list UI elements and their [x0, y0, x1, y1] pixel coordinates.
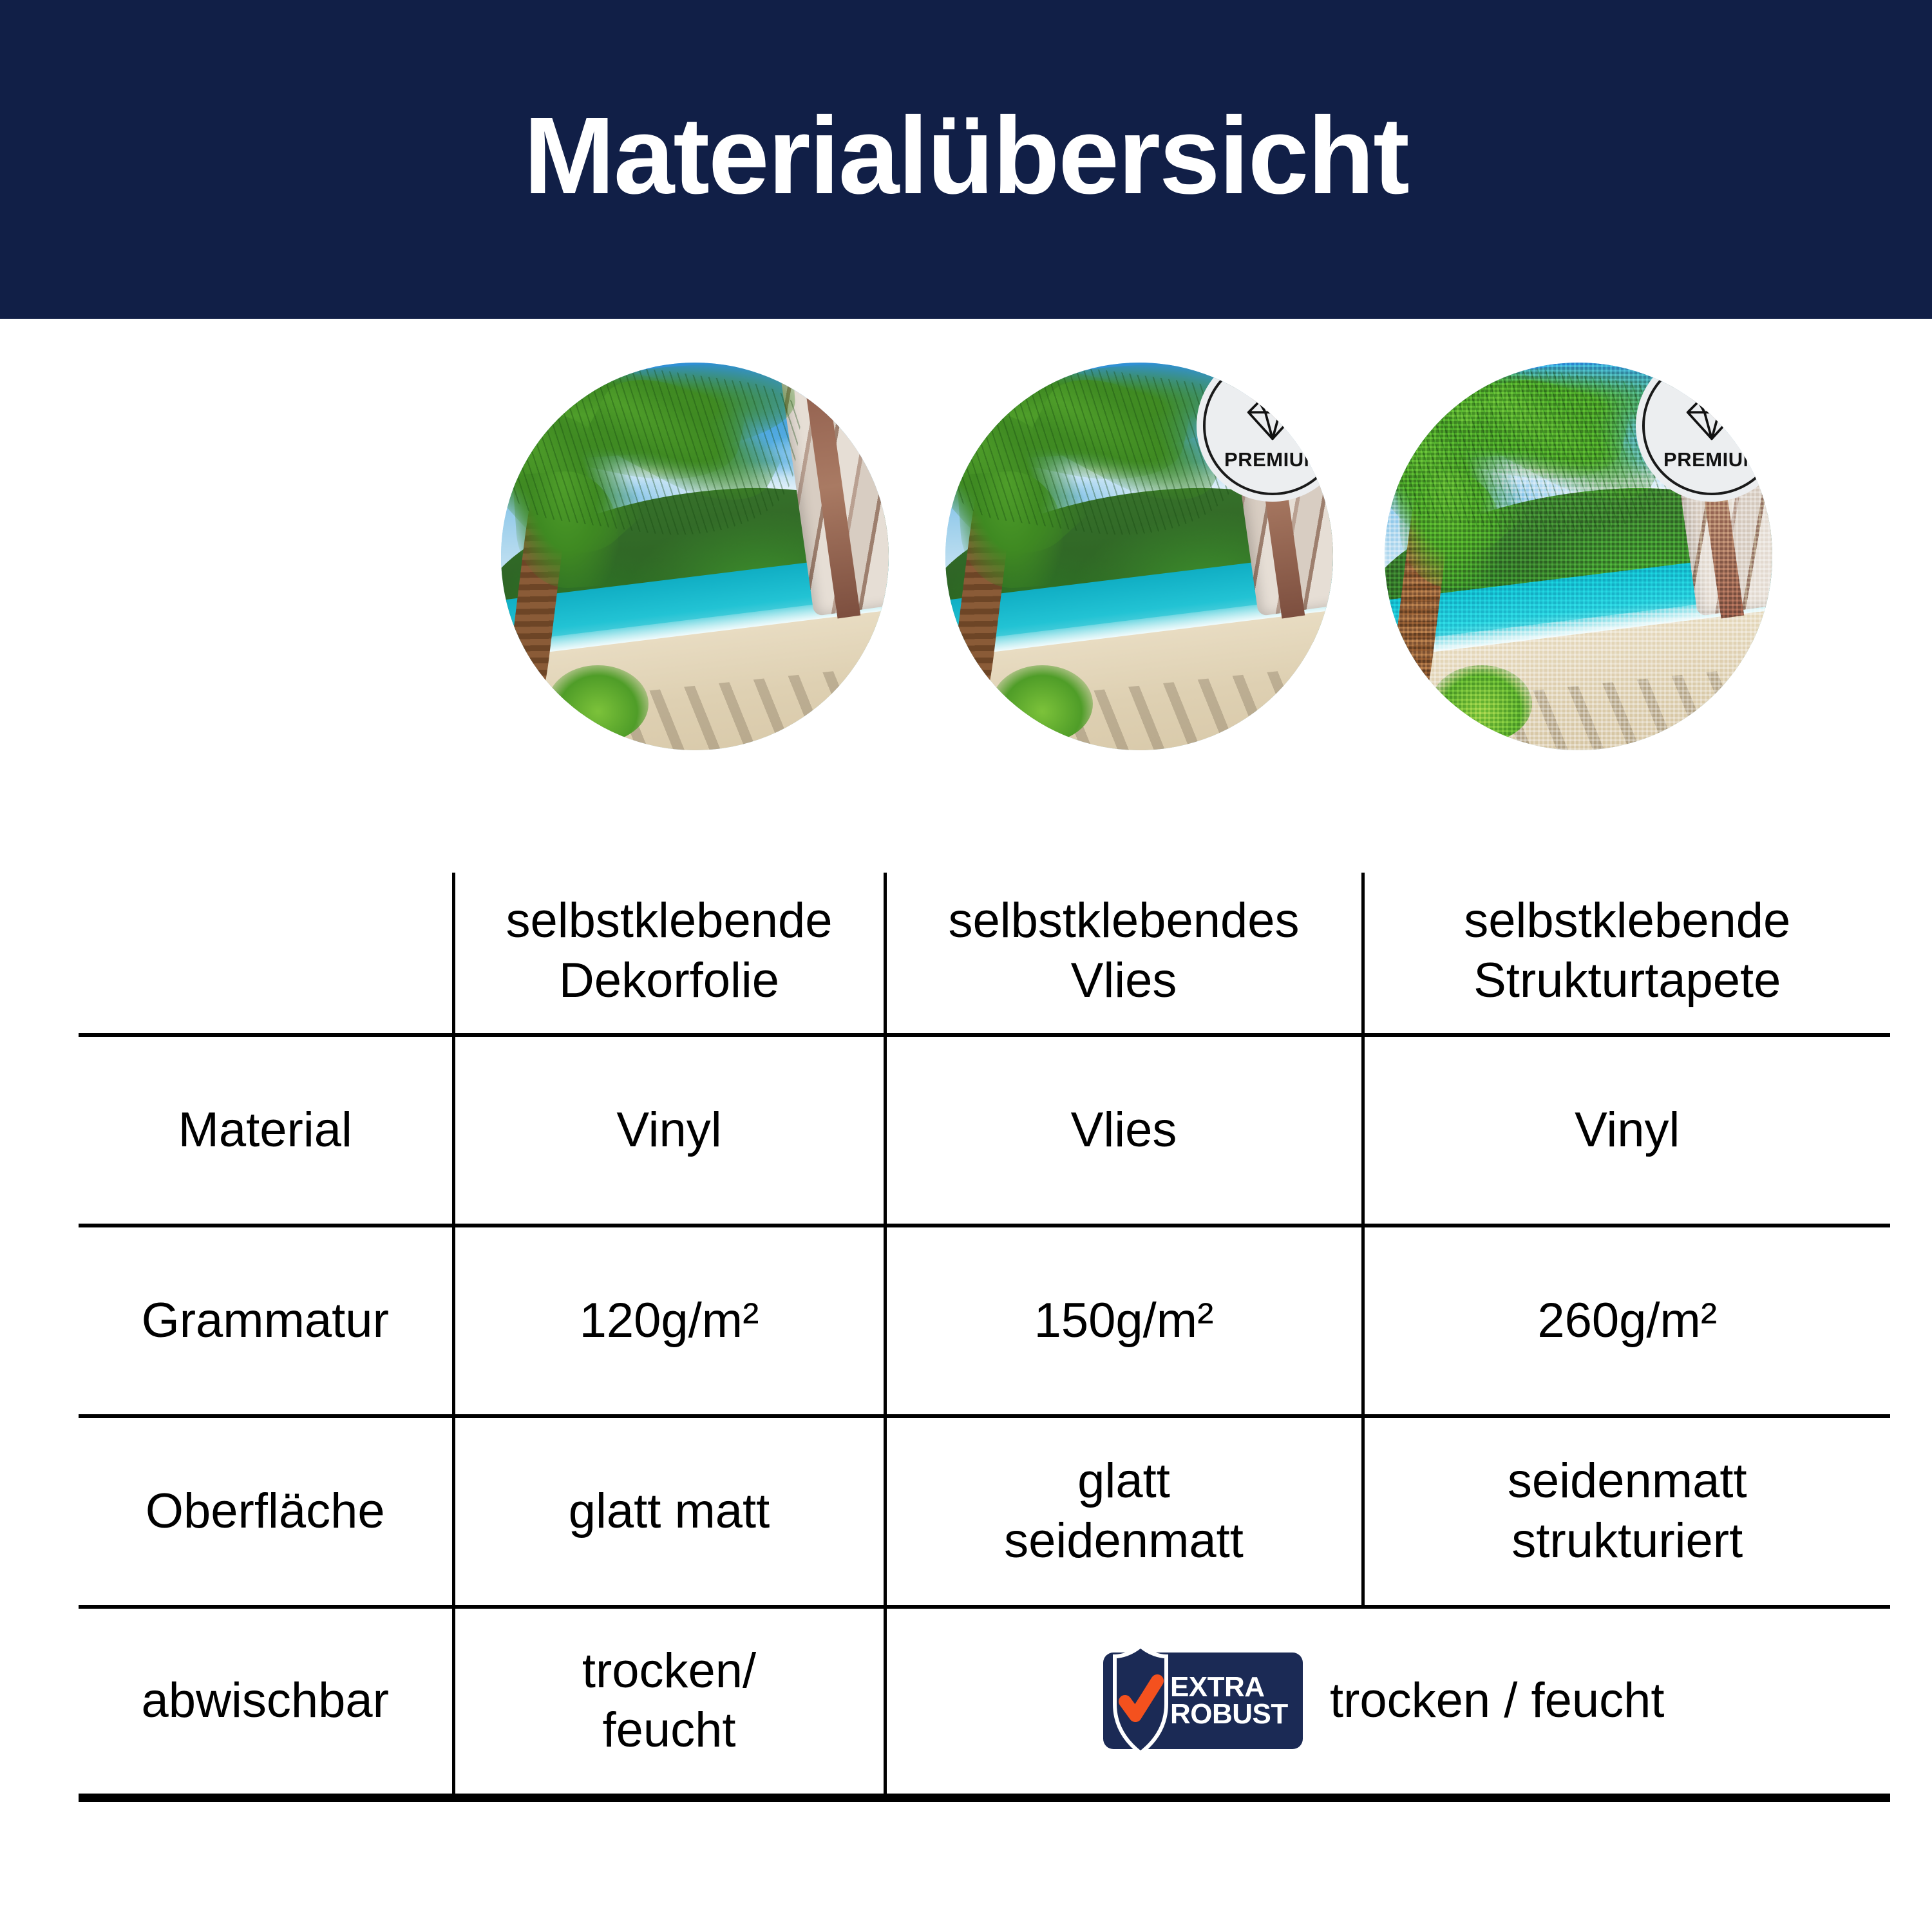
header-line-1: selbstklebendes	[896, 891, 1352, 951]
cell-abwischbar-vlies-strukturtapete: EXTRA ROBUST trocken / feucht	[885, 1607, 1890, 1797]
robust-line-2: ROBUST	[1170, 1701, 1288, 1728]
cell-oberflaeche-vlies: glatt seidenmatt	[885, 1416, 1363, 1607]
header-line-2: Vlies	[896, 951, 1352, 1011]
shield-check-icon	[1110, 1642, 1171, 1759]
cell-line-2: feucht	[464, 1701, 875, 1761]
material-overview-page: Materialübersicht	[0, 0, 1932, 1932]
cell-oberflaeche-dekorfolie: glatt matt	[453, 1416, 885, 1607]
header-cell-vlies: selbstklebendes Vlies	[885, 873, 1363, 1035]
thumbnail-row: PREMIUM	[0, 363, 1932, 762]
table-header-row: selbstklebende Dekorfolie selbstklebende…	[79, 873, 1890, 1035]
beach-photo	[501, 363, 889, 750]
thumbnail-strukturtapete[interactable]: PREMIUM	[1385, 363, 1772, 750]
premium-label: PREMIUM	[1224, 448, 1321, 471]
foreground-bush	[1431, 665, 1532, 743]
cell-material-vlies: Vlies	[885, 1035, 1363, 1226]
premium-label: PREMIUM	[1663, 448, 1760, 471]
thumbnail-vlies[interactable]: PREMIUM	[945, 363, 1333, 750]
header-line-2: Dekorfolie	[464, 951, 875, 1011]
cell-grammatur-dekorfolie: 120g/m²	[453, 1226, 885, 1416]
table-row-oberflaeche: Oberfläche glatt matt glatt seidenmatt s…	[79, 1416, 1890, 1607]
cell-grammatur-vlies: 150g/m²	[885, 1226, 1363, 1416]
cell-material-dekorfolie: Vinyl	[453, 1035, 885, 1226]
material-comparison-table: selbstklebende Dekorfolie selbstklebende…	[79, 873, 1890, 1802]
header-cell-dekorfolie: selbstklebende Dekorfolie	[453, 873, 885, 1035]
row-label-oberflaeche: Oberfläche	[79, 1416, 453, 1607]
cell-abwischbar-dekorfolie: trocken/ feucht	[453, 1607, 885, 1797]
header-line-1: selbstklebende	[464, 891, 875, 951]
page-title: Materialübersicht	[524, 101, 1408, 211]
cell-material-strukturtapete: Vinyl	[1363, 1035, 1890, 1226]
foreground-bush	[992, 665, 1093, 743]
robust-line-1: EXTRA	[1170, 1674, 1288, 1701]
table-row-abwischbar: abwischbar trocken/ feucht	[79, 1607, 1890, 1797]
cell-line-2: seidenmatt	[896, 1511, 1352, 1571]
header-line-2: Strukturtapete	[1374, 951, 1882, 1011]
row-label-material: Material	[79, 1035, 453, 1226]
cell-line-1: glatt	[896, 1452, 1352, 1511]
extra-robust-badge: EXTRA ROBUST	[1103, 1653, 1303, 1749]
cell-line-1: trocken/	[464, 1642, 875, 1701]
diamond-icon	[1676, 380, 1748, 446]
header-cell-empty	[79, 873, 453, 1035]
thumbnail-dekorfolie[interactable]	[501, 363, 889, 750]
header-cell-strukturtapete: selbstklebende Strukturtapete	[1363, 873, 1890, 1035]
table-row-material: Material Vinyl Vlies Vinyl	[79, 1035, 1890, 1226]
table-row-grammatur: Grammatur 120g/m² 150g/m² 260g/m²	[79, 1226, 1890, 1416]
foreground-bush	[547, 665, 649, 743]
diamond-icon	[1236, 380, 1309, 446]
cell-line-2: strukturiert	[1374, 1511, 1882, 1571]
cell-abwischbar-value: trocken / feucht	[1330, 1671, 1665, 1731]
header-line-1: selbstklebende	[1374, 891, 1882, 951]
cell-oberflaeche-strukturtapete: seidenmatt strukturiert	[1363, 1416, 1890, 1607]
extra-robust-text: EXTRA ROBUST	[1170, 1674, 1288, 1728]
cell-line-1: seidenmatt	[1374, 1452, 1882, 1511]
row-label-grammatur: Grammatur	[79, 1226, 453, 1416]
row-label-abwischbar: abwischbar	[79, 1607, 453, 1797]
cell-grammatur-strukturtapete: 260g/m²	[1363, 1226, 1890, 1416]
page-header: Materialübersicht	[0, 0, 1932, 319]
